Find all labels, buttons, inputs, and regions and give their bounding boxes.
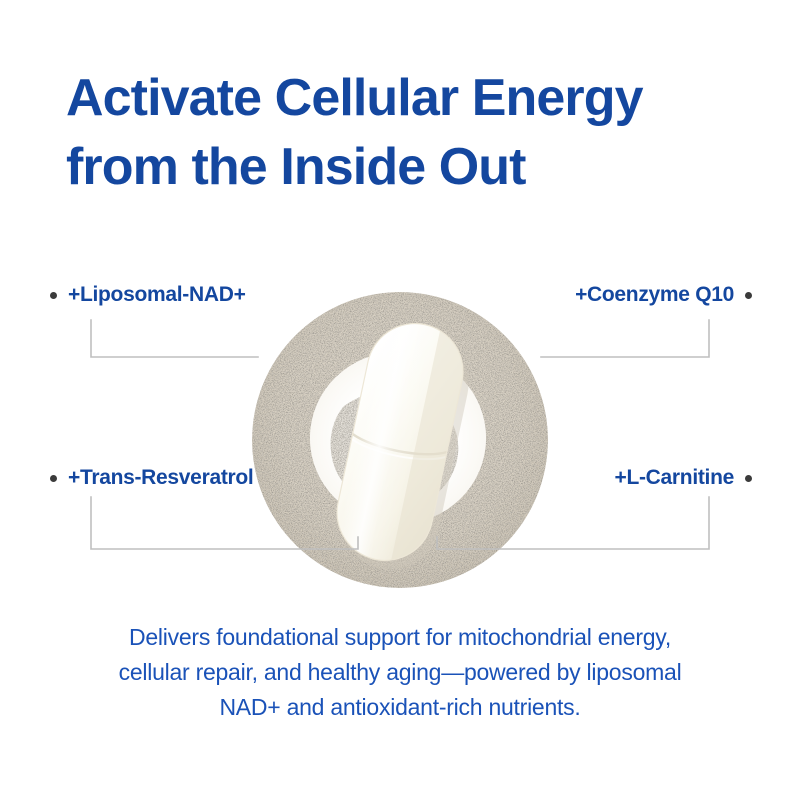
page-title: Activate Cellular Energy from the Inside…: [66, 64, 766, 202]
bullet-dot-icon: [50, 475, 57, 482]
connector-top-right: [541, 320, 709, 357]
ingredient-text: +Coenzyme Q10: [575, 283, 734, 307]
bullet-dot-icon: [745, 475, 752, 482]
infographic-canvas: Activate Cellular Energy from the Inside…: [0, 0, 800, 800]
ingredient-label-trans-resveratrol: +Trans-Resveratrol: [50, 466, 253, 490]
ingredient-label-l-carnitine: +L-Carnitine: [615, 466, 753, 490]
ingredient-label-coenzyme-q10: +Coenzyme Q10: [575, 283, 752, 307]
product-image: [248, 288, 552, 592]
bullet-dot-icon: [50, 292, 57, 299]
description-paragraph: Delivers foundational support for mitoch…: [80, 620, 720, 726]
ingredient-text: +L-Carnitine: [615, 466, 735, 490]
bullet-dot-icon: [745, 292, 752, 299]
ingredient-text: +Liposomal-NAD+: [68, 283, 246, 307]
ingredient-text: +Trans-Resveratrol: [68, 466, 253, 490]
connector-top-left: [91, 320, 258, 357]
ingredient-label-liposomal-nad: +Liposomal-NAD+: [50, 283, 246, 307]
